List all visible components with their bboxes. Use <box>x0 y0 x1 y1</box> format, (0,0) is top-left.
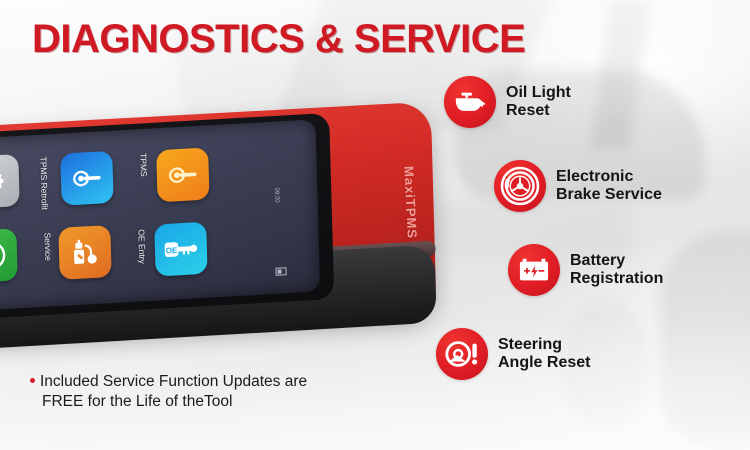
service-tools-icon <box>69 236 102 270</box>
feature-icon-circle <box>508 244 560 296</box>
app-tile-label: Service <box>42 232 53 261</box>
app-tile-service[interactable]: Service <box>58 225 111 280</box>
device-screen[interactable]: Settings TPMS Retrofit <box>0 119 320 312</box>
app-tile-label: OE Entry <box>136 229 147 264</box>
oil-can-icon <box>454 90 486 114</box>
brake-rotor-icon <box>500 166 540 206</box>
app-tile-label: TPMS <box>138 153 149 177</box>
feature-icon-circle <box>444 76 496 128</box>
feature-list: Oil Light Reset Electron <box>432 76 750 406</box>
battery-icon <box>518 255 550 285</box>
app-grid: Settings TPMS Retrofit <box>0 137 264 304</box>
promo-banner: DIAGNOSTICS & SERVICE <box>0 0 750 450</box>
oe-key-icon: OE <box>163 235 200 263</box>
tpms-sensor-icon <box>70 164 105 192</box>
feature-label: Battery Registration <box>570 252 663 288</box>
feature-icon-circle <box>436 328 488 380</box>
app-tile-settings[interactable]: Settings <box>0 154 20 209</box>
feature-battery-registration: Battery Registration <box>508 244 663 296</box>
feature-label: Electronic Brake Service <box>556 168 662 204</box>
feature-electronic-brake-service: Electronic Brake Service <box>494 160 662 212</box>
feature-label: Oil Light Reset <box>506 84 571 120</box>
caption-note: Included Service Function Updates are FR… <box>30 372 375 412</box>
svg-text:OE: OE <box>166 246 179 256</box>
back-arrow-icon <box>0 238 9 274</box>
app-tile-tpms[interactable]: TPMS <box>156 147 209 202</box>
app-tile-oe-entry[interactable]: OE OE Entry <box>154 222 207 277</box>
feature-oil-light-reset: Oil Light Reset <box>444 76 571 128</box>
caption-line-1: Included Service Function Updates are <box>40 373 307 390</box>
feature-steering-angle-reset: Steering Angle Reset <box>436 328 590 380</box>
tpms-sensor-icon <box>166 161 201 189</box>
feature-icon-circle <box>494 160 546 212</box>
gear-icon <box>0 166 8 198</box>
feature-label: Steering Angle Reset <box>498 336 590 372</box>
page-title: DIAGNOSTICS & SERVICE <box>32 17 525 62</box>
app-tile-tpms-retrofit[interactable]: TPMS Retrofit <box>60 151 113 206</box>
battery-icon <box>275 267 286 276</box>
maxitpms-device: Settings TPMS Retrofit <box>0 108 442 343</box>
status-clock: 09:20 <box>273 188 279 203</box>
bullet-dot <box>30 378 35 383</box>
steering-wheel-alert-icon <box>444 338 480 370</box>
caption-line-2: FREE for the Life of theTool <box>30 392 375 412</box>
app-tile-update[interactable]: Update <box>0 228 18 283</box>
app-tile-label: TPMS Retrofit <box>38 156 49 210</box>
